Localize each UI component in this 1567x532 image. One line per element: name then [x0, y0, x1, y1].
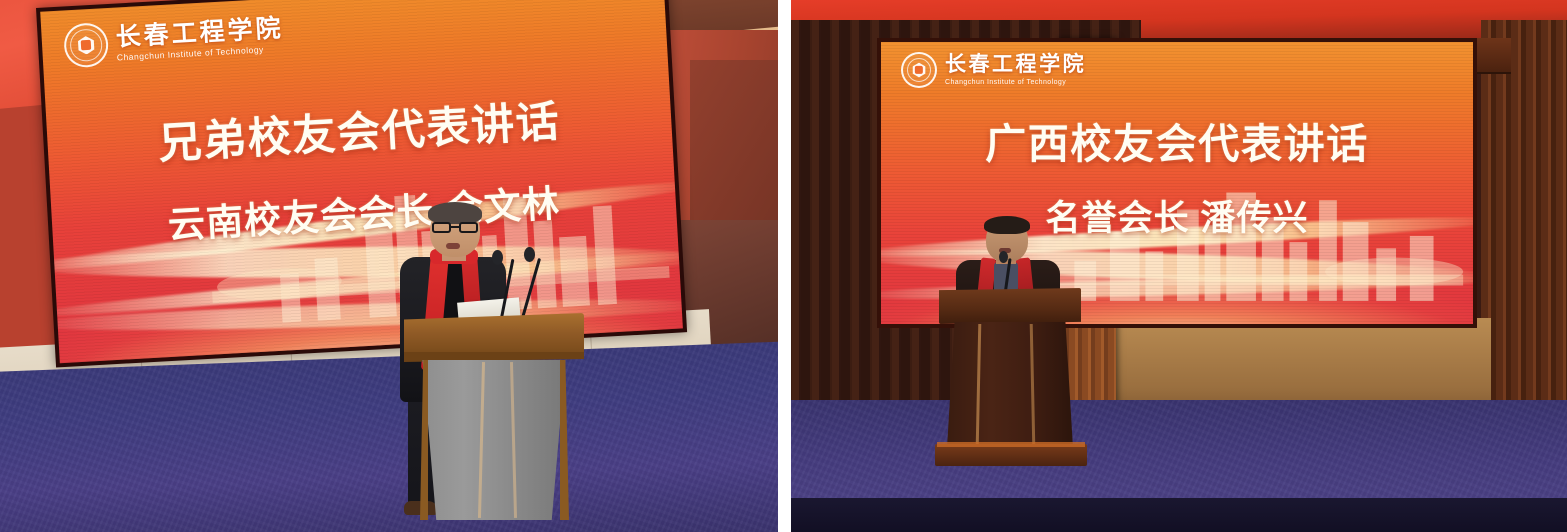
right-screen-headline: 广西校友会代表讲话: [881, 110, 1473, 170]
speaker-glasses-icon: [432, 222, 478, 233]
university-seal-icon: [901, 52, 937, 88]
left-screen-brand: 长春工程学院 Changchun Institute of Technology: [63, 12, 285, 68]
right-side-wall-slats: [1481, 20, 1567, 450]
left-photo: 长春工程学院 Changchun Institute of Technology…: [0, 0, 778, 532]
composite-image: 长春工程学院 Changchun Institute of Technology…: [0, 0, 1567, 532]
right-podium-base: [935, 444, 1087, 466]
right-podium-base-highlight: [937, 442, 1085, 447]
microphone-head-icon: [999, 251, 1008, 263]
right-stage-edge: [791, 498, 1567, 532]
left-carpet: [0, 341, 778, 532]
microphone-head-icon: [524, 247, 535, 262]
right-screen-brand: 长春工程学院 Changchun Institute of Technology: [901, 52, 1086, 88]
university-seal-icon: [63, 22, 109, 68]
left-room-scene: 长春工程学院 Changchun Institute of Technology…: [0, 0, 778, 532]
panel-divider: [778, 0, 791, 532]
university-name-en: Changchun Institute of Technology: [945, 79, 1086, 86]
left-podium-body: [418, 360, 570, 520]
microphone-head-icon: [492, 250, 503, 265]
university-name-zh: 长春工程学院: [945, 54, 1086, 76]
right-podium-body: [947, 322, 1073, 448]
speaker-mouth: [446, 243, 460, 249]
speaker-hair: [984, 216, 1030, 234]
right-room-scene: 长春工程学院 Changchun Institute of Technology…: [791, 0, 1567, 532]
speaker-hair: [428, 202, 482, 224]
left-led-screen: 长春工程学院 Changchun Institute of Technology…: [36, 0, 687, 367]
right-podium-top: [939, 288, 1081, 324]
right-photo: 长春工程学院 Changchun Institute of Technology…: [791, 0, 1567, 532]
